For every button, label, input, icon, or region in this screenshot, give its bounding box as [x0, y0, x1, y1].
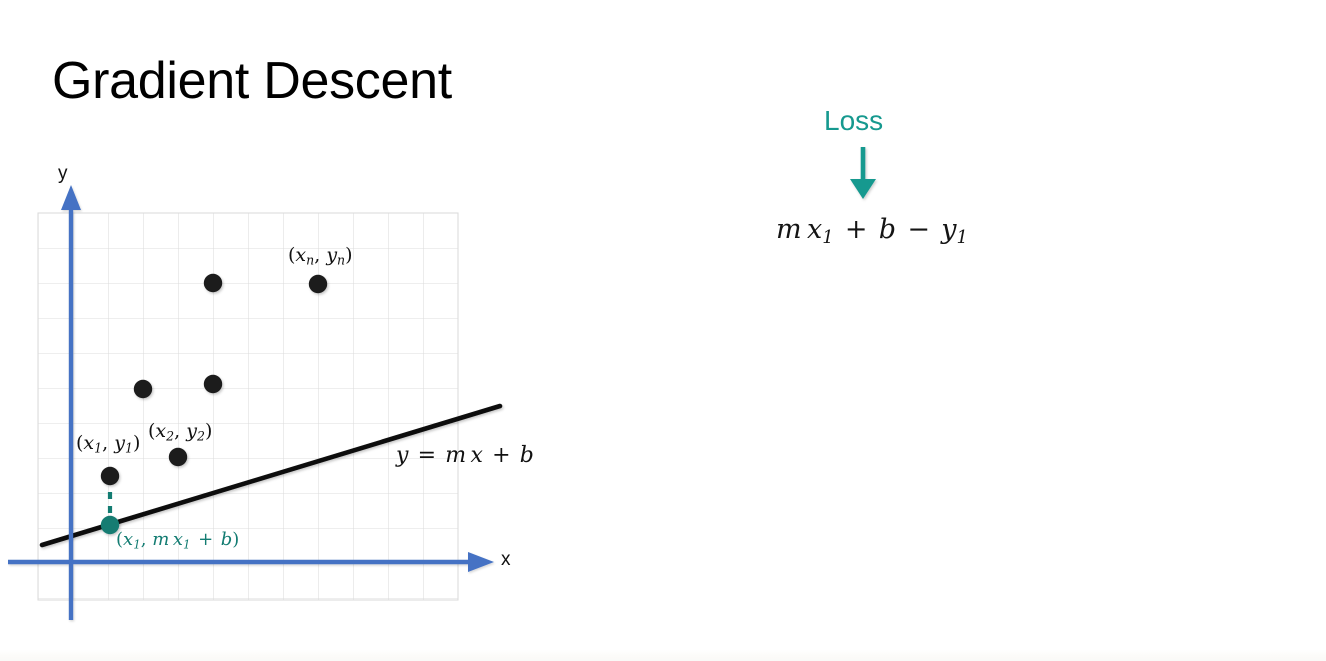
- var-b: b: [221, 529, 233, 550]
- data-point: [309, 275, 327, 293]
- scatter-plot: y x (xn, yn) (x1, y1) (x2, y2) y = m x +…: [0, 0, 560, 661]
- line-equation-label: y = m x + b: [396, 443, 534, 468]
- paren-close: ): [133, 432, 140, 454]
- var-y: y: [186, 420, 197, 442]
- var-y: y: [326, 244, 337, 266]
- var-x: x: [295, 244, 306, 266]
- plot-grid: [38, 213, 458, 600]
- comma: ,: [141, 529, 152, 550]
- data-point: [204, 375, 222, 393]
- data-point: [204, 274, 222, 292]
- loss-label: Loss: [824, 105, 883, 137]
- sub-1b: 1: [183, 537, 191, 551]
- slide-canvas: Gradient Descent: [0, 0, 1326, 661]
- sub-1: 1: [94, 441, 102, 456]
- data-point: [134, 380, 152, 398]
- sub-1b: 1: [957, 227, 968, 248]
- loss-formula: m x1 + b − y1: [776, 214, 968, 245]
- minus-sign: −: [896, 214, 941, 245]
- plus-sign: +: [191, 529, 221, 550]
- paren-close: ): [345, 244, 352, 266]
- var-y: y: [114, 432, 125, 454]
- sub-n: n: [306, 253, 314, 268]
- sub-1: 1: [125, 441, 133, 456]
- sub-1: 1: [822, 227, 833, 248]
- point-label-xn-yn: (xn, yn): [288, 244, 353, 266]
- var-x2: x: [173, 529, 183, 550]
- sub-2: 2: [197, 429, 205, 444]
- var-x: x: [123, 529, 133, 550]
- var-x: x: [807, 214, 822, 245]
- projection-point-label: (x1, m x1 + b): [116, 529, 239, 550]
- var-m: m: [152, 529, 169, 550]
- var-x: x: [155, 420, 166, 442]
- var-m: m: [776, 214, 802, 245]
- x-axis-label: x: [501, 549, 511, 571]
- sub-2: 2: [166, 429, 174, 444]
- equals-sign: =: [408, 443, 445, 468]
- plus-sign: +: [834, 214, 879, 245]
- sub-1: 1: [133, 537, 141, 551]
- paren-open: (: [116, 529, 123, 550]
- var-y: y: [396, 443, 408, 468]
- paren-close: ): [205, 420, 212, 442]
- comma: ,: [174, 420, 186, 442]
- point-label-x2-y2: (x2, y2): [148, 420, 212, 442]
- arrow-down-icon: [836, 143, 892, 203]
- var-x: x: [83, 432, 94, 454]
- paren-close: ): [232, 529, 239, 550]
- var-b: b: [520, 443, 534, 468]
- sub-n: n: [337, 253, 345, 268]
- data-point: [101, 467, 119, 485]
- y-axis-label: y: [58, 163, 68, 185]
- comma: ,: [102, 432, 114, 454]
- var-b: b: [879, 214, 896, 245]
- comma: ,: [314, 244, 326, 266]
- point-label-x1-y1: (x1, y1): [76, 432, 140, 454]
- plot-svg: [0, 0, 560, 661]
- var-m: m: [445, 443, 466, 468]
- var-y: y: [941, 214, 956, 245]
- var-x: x: [471, 443, 483, 468]
- data-point: [169, 448, 187, 466]
- plus-sign: +: [483, 443, 520, 468]
